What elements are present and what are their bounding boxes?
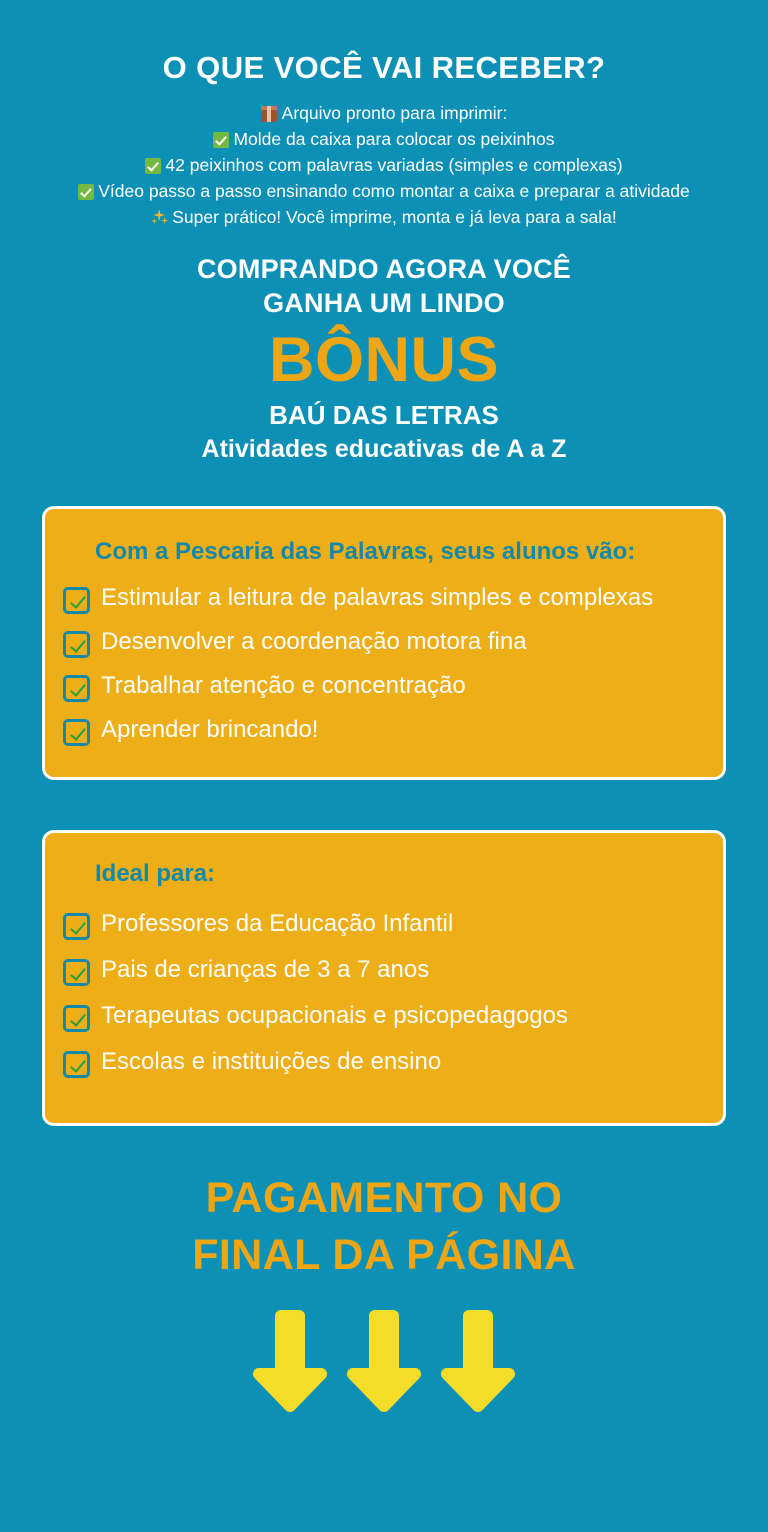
down-arrow-icon — [345, 1306, 423, 1416]
checkbox-icon — [63, 1005, 90, 1032]
feature-line: Arquivo pronto para imprimir: — [0, 100, 768, 126]
payment-line2: FINAL DA PÁGINA — [0, 1227, 768, 1284]
bonus-section: COMPRANDO AGORA VOCÊ GANHA UM LINDO BÔNU… — [0, 252, 768, 466]
bonus-headline-line1: COMPRANDO AGORA VOCÊ — [0, 252, 768, 286]
feature-line: Molde da caixa para colocar os peixinhos — [0, 126, 768, 152]
list-item-label: Trabalhar atenção e concentração — [101, 665, 466, 707]
bonus-headline-line2: GANHA UM LINDO — [0, 286, 768, 320]
checkbox-icon — [63, 631, 90, 658]
bonus-word: BÔNUS — [0, 324, 768, 396]
list-item: Estimular a leitura de palavras simples … — [63, 577, 697, 619]
list-item: Terapeutas ocupacionais e psicopedagogos — [63, 995, 697, 1037]
audience-card: Ideal para: Professores da Educação Infa… — [42, 830, 726, 1126]
feature-text: Super prático! Você imprime, monta e já … — [172, 207, 617, 227]
checkbox-icon — [63, 1051, 90, 1078]
checkbox-icon — [63, 959, 90, 986]
payment-line1: PAGAMENTO NO — [0, 1170, 768, 1227]
bonus-description: Atividades educativas de A a Z — [0, 432, 768, 466]
down-arrow-icon — [251, 1306, 329, 1416]
list-item: Escolas e instituições de ensino — [63, 1041, 697, 1083]
feature-line: 42 peixinhos com palavras variadas (simp… — [0, 152, 768, 178]
bonus-subtitle: BAÚ DAS LETRAS — [0, 398, 768, 432]
list-item-label: Aprender brincando! — [101, 709, 318, 751]
package-emoji-icon — [261, 106, 277, 122]
feature-list: Arquivo pronto para imprimir: Molde da c… — [0, 100, 768, 230]
feature-text: 42 peixinhos com palavras variadas (simp… — [165, 155, 622, 175]
checkbox-icon — [63, 719, 90, 746]
list-item-label: Escolas e instituições de ensino — [101, 1041, 441, 1083]
promo-page: O QUE VOCÊ VAI RECEBER? Arquivo pronto p… — [0, 0, 768, 1532]
list-item: Trabalhar atenção e concentração — [63, 665, 697, 707]
list-item: Professores da Educação Infantil — [63, 903, 697, 945]
list-item: Aprender brincando! — [63, 709, 697, 751]
down-arrow-icon — [439, 1306, 517, 1416]
feature-text: Molde da caixa para colocar os peixinhos — [233, 129, 554, 149]
arrow-group — [0, 1306, 768, 1416]
checkbox-icon — [63, 675, 90, 702]
check-emoji-icon — [213, 132, 229, 148]
feature-line: Vídeo passo a passo ensinando como monta… — [0, 178, 768, 204]
check-emoji-icon — [145, 158, 161, 174]
feature-text: Vídeo passo a passo ensinando como monta… — [98, 181, 689, 201]
list-item: Desenvolver a coordenação motora fina — [63, 621, 697, 663]
feature-text: Arquivo pronto para imprimir: — [282, 103, 508, 123]
list-item-label: Desenvolver a coordenação motora fina — [101, 621, 527, 663]
list-item-label: Pais de crianças de 3 a 7 anos — [101, 949, 429, 991]
header-section: O QUE VOCÊ VAI RECEBER? Arquivo pronto p… — [0, 0, 768, 230]
list-item-label: Professores da Educação Infantil — [101, 903, 453, 945]
benefits-card-title: Com a Pescaria das Palavras, seus alunos… — [95, 537, 697, 567]
page-title: O QUE VOCÊ VAI RECEBER? — [0, 50, 768, 86]
audience-card-title: Ideal para: — [95, 859, 697, 889]
checkbox-icon — [63, 913, 90, 940]
check-emoji-icon — [78, 184, 94, 200]
feature-line: Super prático! Você imprime, monta e já … — [0, 204, 768, 230]
payment-section: PAGAMENTO NO FINAL DA PÁGINA — [0, 1170, 768, 1416]
list-item-label: Terapeutas ocupacionais e psicopedagogos — [101, 995, 568, 1037]
list-item-label: Estimular a leitura de palavras simples … — [101, 577, 653, 619]
list-item: Pais de crianças de 3 a 7 anos — [63, 949, 697, 991]
checkbox-icon — [63, 587, 90, 614]
sparkles-emoji-icon — [151, 209, 168, 226]
benefits-card: Com a Pescaria das Palavras, seus alunos… — [42, 506, 726, 780]
